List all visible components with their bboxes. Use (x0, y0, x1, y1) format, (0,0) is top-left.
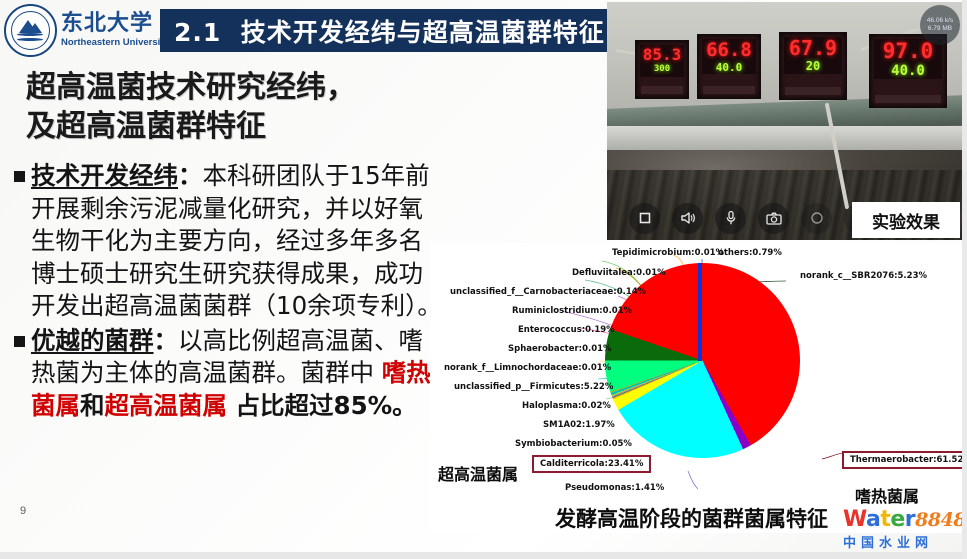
heading-line-1: 超高温菌技术研究经纬， (26, 68, 446, 107)
pie-label-sm1a02: SM1A02:1.97% (543, 420, 615, 430)
watermark-cn: 中国水业网 (843, 532, 965, 551)
pie-label-symbiobacterium: Symbiobacterium:0.05% (515, 439, 632, 449)
bullet-square-icon (14, 336, 25, 347)
pie-label-enterococcus: Enterococcus:0.19% (518, 325, 615, 335)
bullet-colon: ： (178, 161, 203, 190)
controller-process-value: 67.9 (789, 38, 837, 58)
pie-label-sbr2076: norank_c__SBR2076:5.23% (800, 271, 927, 281)
pie-label-others: others:0.79% (718, 248, 782, 258)
capture-right-edge (962, 0, 967, 559)
watermark-number: 8848 (915, 509, 966, 531)
pie-label-tepidimicrobium: Tepidimicrobium:0.01% (612, 248, 724, 258)
network-speed: 46.06 k/s (927, 17, 953, 25)
experiment-effect-label: 实验效果 (852, 202, 960, 238)
controller-set-value: 40.0 (716, 62, 743, 73)
microphone-icon[interactable] (715, 203, 746, 234)
pie-label-limnochordaceae: norank_f__Limnochordaceae:0.01% (444, 363, 611, 373)
capture-bottom-edge (0, 552, 967, 559)
presentation-slide: 东北大学 Northeastern University 2.1 技术开发经纬与… (0, 0, 967, 559)
watermark-letter-r: r (905, 507, 915, 532)
bullet-mid: 和 (80, 391, 105, 420)
annotation-hyperthermophile-genus: 超高温菌属 (438, 461, 518, 485)
bullet-text-b: 占比超过85%。 (227, 391, 417, 420)
stop-icon[interactable] (629, 203, 660, 234)
site-watermark: Water8848.com 中国水业网 (843, 509, 965, 551)
watermark-letter-a: a (866, 507, 880, 532)
controller-process-value: 85.3 (643, 47, 682, 63)
university-seal-icon (4, 4, 57, 57)
temperature-controller: 85.3 300 (635, 40, 689, 99)
experiment-video-panel[interactable]: 85.3 300 66.8 40.0 67.9 20 97.0 40.0 (607, 2, 964, 240)
page-title: 超高温菌技术研究经纬， 及超高温菌群特征 (26, 68, 446, 146)
capture-icon[interactable] (801, 203, 832, 234)
university-name-en: Northeastern University (61, 37, 169, 48)
bullet-list: 技术开发经纬：本科研团队于15年前开展剩余污泥减量化研究，并以好氧生物干化为主要… (14, 160, 444, 425)
pie-chart-panel: Tepidimicrobium:0.01% others:0.79% noran… (430, 243, 967, 533)
network-total: 6.79 MB (928, 25, 952, 33)
pie-label-ruminiclostridium: Ruminiclostridium:0.01% (512, 306, 632, 316)
pie-label-firmicutes: unclassified_p__Firmicutes:5.22% (454, 382, 613, 392)
bullet-body: 优越的菌群：以高比例超高温菌、嗜热菌为主体的高温菌群。菌群中 嗜热菌属和超高温菌… (31, 325, 444, 423)
bullet-lead-label: 技术开发经纬 (31, 161, 178, 190)
temperature-controller: 97.0 40.0 (869, 34, 947, 108)
watermark-letter-e: e (890, 507, 904, 532)
pie-label-thermaerobacter: Thermaerobacter:61.52% (842, 451, 967, 469)
controller-set-value: 300 (654, 65, 670, 74)
list-item: 优越的菌群：以高比例超高温菌、嗜热菌为主体的高温菌群。菌群中 嗜热菌属和超高温菌… (14, 325, 444, 423)
bullet-square-icon (14, 171, 25, 182)
highlight-hyperthermophile: 超高温菌属 (105, 391, 228, 420)
pie-label-pseudomonas: Pseudomonas:1.41% (565, 483, 664, 493)
network-speed-badge: 46.06 k/s 6.79 MB (920, 5, 960, 45)
list-item: 技术开发经纬：本科研团队于15年前开展剩余污泥减量化研究，并以好氧生物干化为主要… (14, 160, 444, 323)
watermark-letter-w: W (843, 507, 866, 532)
section-heading: 技术开发经纬与超高温菌群特征 (241, 18, 605, 47)
chart-caption: 发酵高温阶段的菌群菌属特征 (555, 503, 828, 533)
annotation-thermophile-genus: 嗜热菌属 (855, 483, 919, 507)
section-number: 2.1 (174, 18, 221, 47)
pie-label-defluviitalea: Defluviitalea:0.01% (572, 268, 666, 278)
controller-set-value: 20 (806, 60, 820, 72)
section-title-text: 2.1 技术开发经纬与超高温菌群特征 (160, 13, 605, 49)
section-title-bar: 2.1 技术开发经纬与超高温菌群特征 (160, 9, 607, 52)
pie-label-haloplasma: Haloplasma:0.02% (522, 401, 611, 411)
pie-label-calditerricola: Calditerricola:23.41% (532, 455, 651, 473)
bullet-lead-label: 优越的菌群 (31, 326, 154, 355)
university-logo: 东北大学 Northeastern University (4, 2, 162, 58)
slide-number: 9 (20, 505, 26, 517)
watermark-wordmark: Water8848.com (843, 509, 965, 531)
controller-process-value: 66.8 (706, 41, 752, 60)
pie-label-carnobacteriaceae: unclassified_f__Carnobacteriaceae:0.14% (450, 287, 646, 297)
temperature-controller: 67.9 20 (779, 32, 847, 100)
bullet-colon: ： (154, 326, 179, 355)
watermark-letter-t: t (880, 507, 890, 532)
bullet-body: 技术开发经纬：本科研团队于15年前开展剩余污泥减量化研究，并以好氧生物干化为主要… (31, 160, 444, 323)
pie-label-sphaerobacter: Sphaerobacter:0.01% (508, 344, 612, 354)
speaker-icon[interactable] (672, 203, 703, 234)
university-name-cn: 东北大学 (61, 12, 169, 35)
controller-process-value: 97.0 (883, 41, 934, 62)
temperature-controller: 66.8 40.0 (697, 34, 761, 99)
heading-line-2: 及超高温菌群特征 (26, 107, 446, 146)
camera-icon[interactable] (758, 203, 789, 234)
controller-set-value: 40.0 (891, 64, 925, 78)
pie-slice-others (698, 263, 702, 361)
